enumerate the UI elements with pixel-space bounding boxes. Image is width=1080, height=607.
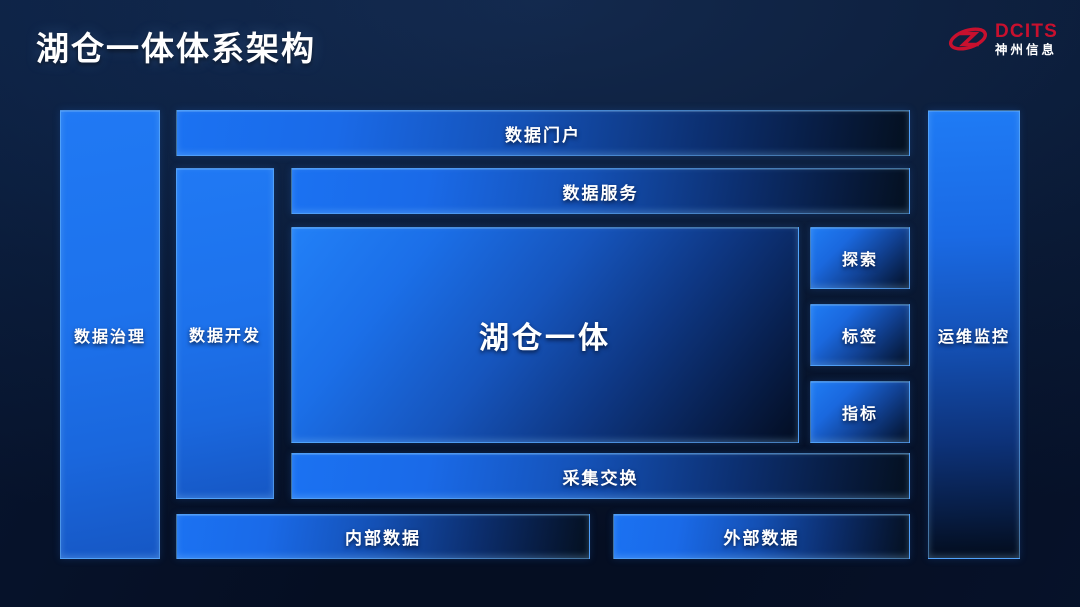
brand-logo: DCITS 神州信息 [948, 22, 1058, 57]
block-label: 指标 [842, 400, 878, 424]
block-label: 数据门户 [505, 121, 581, 146]
block-label: 运维监控 [938, 323, 1010, 347]
block-ops-monitoring[interactable]: 运维监控 [928, 110, 1020, 559]
block-data-portal[interactable]: 数据门户 [176, 110, 910, 156]
logo-text-group: DCITS 神州信息 [995, 22, 1058, 57]
block-lakehouse-core[interactable]: 湖仓一体 [291, 227, 799, 443]
logo-english: DCITS [995, 22, 1058, 41]
block-label: 标签 [842, 323, 878, 347]
slide-canvas: 湖仓一体体系架构 DCITS 神州信息 数据治理 数据门户 数据开发 数据服务 … [0, 0, 1080, 607]
block-data-service[interactable]: 数据服务 [291, 168, 910, 214]
block-label: 数据治理 [74, 323, 146, 347]
block-data-governance[interactable]: 数据治理 [60, 110, 160, 559]
block-data-development[interactable]: 数据开发 [176, 168, 274, 499]
block-explore[interactable]: 探索 [810, 227, 910, 289]
logo-chinese: 神州信息 [995, 44, 1058, 57]
block-label: 探索 [842, 246, 878, 270]
block-label: 数据服务 [563, 179, 639, 204]
page-title: 湖仓一体体系架构 [36, 22, 316, 70]
dcits-swirl-logo-icon [948, 24, 988, 54]
block-label: 内部数据 [345, 524, 421, 549]
block-label: 外部数据 [724, 524, 800, 549]
block-metric[interactable]: 指标 [810, 381, 910, 443]
block-external-data[interactable]: 外部数据 [613, 514, 910, 559]
block-collect-exchange[interactable]: 采集交换 [291, 453, 910, 499]
block-tag[interactable]: 标签 [810, 304, 910, 366]
block-label: 数据开发 [189, 322, 261, 346]
block-label: 采集交换 [563, 464, 639, 489]
block-internal-data[interactable]: 内部数据 [176, 514, 590, 559]
block-label: 湖仓一体 [479, 313, 611, 357]
